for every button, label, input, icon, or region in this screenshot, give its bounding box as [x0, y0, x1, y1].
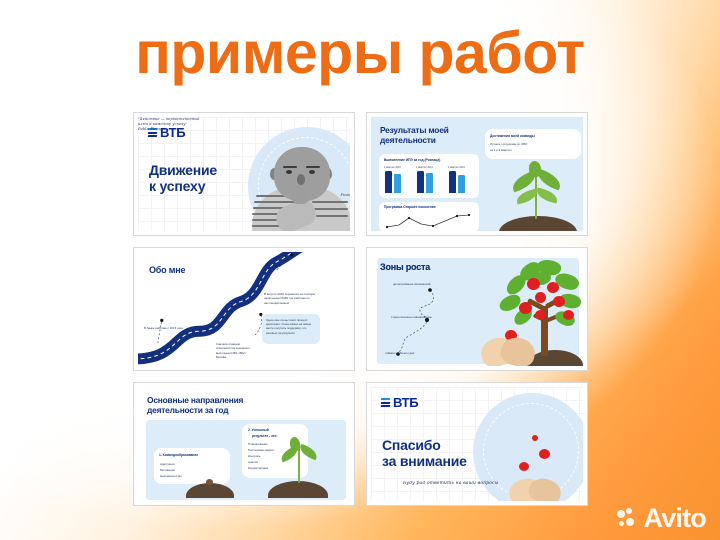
direction-card-1: 1. Командообразование Адаптация Мотиваци… — [154, 448, 230, 484]
thanks-title-line1: Спасибо — [382, 438, 441, 454]
team-achievements-callout: Достижения моей команды Лучшие сотрудник… — [485, 129, 581, 159]
card2-item-3: Анализ — [248, 460, 258, 464]
bar-group-q4-2023 — [385, 171, 401, 193]
slide-directions[interactable]: Основные направления деятельности за год… — [133, 382, 355, 506]
thanks-title-line2: за внимание — [382, 454, 467, 470]
portrait-photo: Picasso — [250, 141, 350, 231]
results-title-line2: деятельности — [380, 136, 436, 145]
cover-title-line1: Движение — [149, 163, 217, 179]
slide-results[interactable]: Результаты моей деятельности Достижения … — [366, 112, 588, 236]
bar-chart-panel: Выполнение ИПЭ за год (Розница) 4 кварта… — [379, 154, 479, 198]
bar-plan — [449, 171, 456, 193]
apple — [547, 282, 559, 293]
avito-wordmark: Avito — [644, 505, 707, 532]
bar-group-q1-2024 — [417, 171, 433, 193]
quarter-label-1: 1 квартал 2024 — [416, 166, 433, 169]
callout-line1: Лучшие сотрудники по ОВО — [490, 142, 527, 146]
bar-fact — [458, 175, 465, 193]
line-chart-panel: Программа Старшее поколение — [379, 202, 479, 231]
vtb-mark-icon — [381, 398, 390, 407]
card1-item-2: Наставничество — [160, 474, 182, 478]
slide-about[interactable]: Обо мне В банке работаю с 2015 года Снач… — [133, 247, 355, 371]
card2-item-0: Планирование — [248, 442, 268, 446]
about-highlight-box: Здесь мне очень помог процесс адаптации.… — [262, 314, 320, 344]
slide-growth[interactable]: Зоны роста Зоны роста делегирование полн… — [366, 247, 588, 371]
slide-cover[interactable]: ВТБ Движение к успеху "Действие — первос… — [133, 112, 355, 236]
bar-chart-title: Выполнение ИПЭ за год (Розница) — [384, 158, 440, 163]
card1-title: 1. Командообразование — [159, 453, 198, 458]
apple — [527, 278, 540, 290]
growth-point-0: делегирование полномочий — [393, 282, 430, 286]
slides-grid: ВТБ Движение к успеху "Действие — первос… — [133, 112, 588, 506]
apple-tree-illustration — [475, 258, 581, 366]
bar-fact — [426, 173, 433, 193]
about-note-right: В августе 2023 перевелся на позицию нача… — [264, 292, 318, 305]
growth-title-overlay: Зоны роста — [380, 262, 430, 272]
card2-title-line1: 2. Успешный — [248, 428, 269, 433]
card2-item-4: Корректировка — [248, 466, 268, 470]
bar-group-q2-2024 — [449, 171, 465, 193]
avito-dots-icon — [617, 508, 639, 530]
apple — [519, 302, 532, 314]
growth-path-svg — [385, 282, 471, 362]
card1-item-0: Адаптация — [160, 462, 175, 466]
page-title: примеры работ — [0, 24, 720, 83]
about-note-left: В банке работаю с 2015 года — [144, 326, 184, 330]
line-chart-svg — [383, 213, 475, 230]
bar-plan — [417, 171, 424, 193]
growth-point-1: стратегическое планирование — [391, 315, 432, 319]
line-chart-title: Программа Старшее поколение — [384, 205, 436, 210]
cover-signature: Pablo Picasso — [138, 127, 350, 132]
apple — [563, 310, 574, 320]
vtb-logo: ВТБ — [381, 396, 418, 409]
card2-item-1: Постановка задачи — [248, 448, 274, 452]
growth-point-2: тайминг рабочего дня — [385, 351, 414, 355]
results-title-line1: Результаты моей — [380, 126, 449, 135]
quarter-label-2: 2 квартал 2024 — [448, 166, 465, 169]
directions-title-line1: Основные направления — [147, 396, 243, 405]
quarter-label-0: 4 квартал 2023 — [384, 166, 401, 169]
bar-plan — [385, 171, 392, 193]
card2-item-2: Контроль — [248, 454, 261, 458]
apple — [535, 292, 546, 303]
slide-thanks[interactable]: ВТБ Спасибо за внимание Буду рад ответит… — [366, 382, 588, 506]
about-note-box: Здесь мне очень помог процесс адаптации.… — [266, 318, 316, 335]
cover-title-line2: к успеху — [149, 179, 205, 195]
vtb-logo-text: ВТБ — [393, 396, 418, 409]
avito-watermark: Avito — [617, 505, 707, 532]
callout-title: Достижения моей команды — [490, 134, 535, 139]
cover-quote: "Действие — первостепенный ключ к каждом… — [138, 117, 208, 127]
thanks-script-line: Буду рад ответить на ваши вопросы — [403, 481, 499, 487]
apple — [535, 310, 546, 320]
directions-title-line2: деятельности за год — [147, 406, 228, 415]
apple — [553, 296, 565, 307]
card2-title-line2: результат - это: — [252, 434, 277, 439]
bar-fact — [394, 174, 401, 193]
callout-line2: за 1 и 2 квартал — [490, 148, 511, 152]
card1-item-1: Мотивация — [160, 468, 175, 472]
about-note-mid: Сначала главным специалистом выездного в… — [216, 342, 256, 359]
